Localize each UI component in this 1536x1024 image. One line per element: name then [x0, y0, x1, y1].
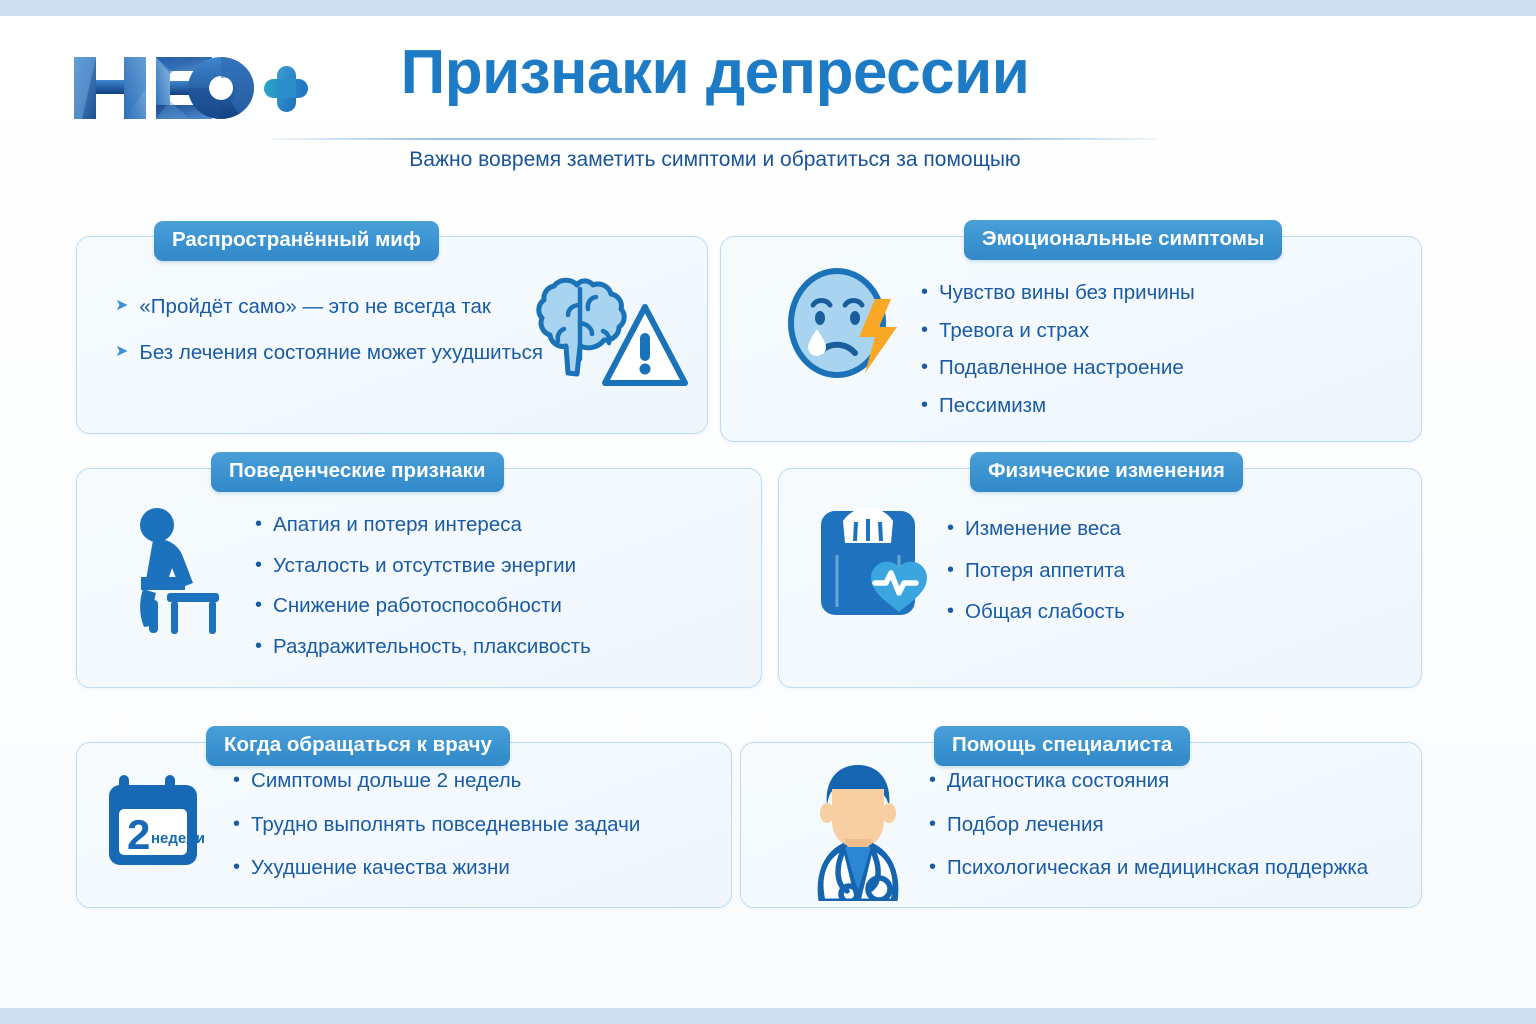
list-item: ➤ Без лечения состояние может ухудшиться	[115, 341, 543, 365]
list-item: • Симптомы дольше 2 недель	[233, 769, 640, 793]
dot-bullet-icon: •	[921, 319, 928, 342]
card-badge-when-to-see-doctor: Когда обращаться к врачу	[206, 726, 510, 766]
list-item: • Раздражительность, плаксивость	[255, 635, 591, 659]
dot-bullet-icon: •	[233, 769, 240, 792]
arrow-bullet-icon: ➤	[115, 341, 128, 363]
list-item-label: Пессимизм	[939, 394, 1046, 418]
brain-warning-icon	[533, 267, 693, 402]
list-item-label: Раздражительность, плаксивость	[273, 635, 591, 659]
list-item: • Изменение веса	[947, 517, 1125, 541]
card-emotional-symptoms: Эмоциональные симптомы • Чувство вины бе…	[720, 236, 1422, 442]
list-item-label: «Пройдёт само» — это не всегда так	[139, 295, 490, 319]
list-item: • Тревога и страх	[921, 319, 1195, 343]
bullet-list-common-myth: ➤ «Пройдёт само» — это не всегда так ➤ Б…	[115, 295, 543, 364]
list-item: ➤ «Пройдёт само» — это не всегда так	[115, 295, 543, 319]
card-common-myth: Распространённый миф ➤ «Пройдёт само» — …	[76, 236, 708, 434]
list-item-label: Потеря аппетита	[965, 559, 1125, 583]
list-item-label: Изменение веса	[965, 517, 1121, 541]
list-item: • Снижение работоспособности	[255, 594, 591, 618]
list-item: • Усталость и отсутствие энергии	[255, 554, 591, 578]
card-badge-physical-changes: Физические изменения	[970, 452, 1243, 492]
dot-bullet-icon: •	[255, 554, 262, 577]
list-item-label: Апатия и потеря интереса	[273, 513, 522, 537]
list-item: • Диагностика состояния	[929, 769, 1368, 793]
weight-scale-heartbeat-icon	[815, 505, 945, 635]
bullet-list-physical-changes: • Изменение веса • Потеря аппетита • Общ…	[947, 517, 1125, 624]
page-title: Признаки депрессии	[270, 42, 1160, 104]
bullet-list-emotional-symptoms: • Чувство вины без причины • Тревога и с…	[921, 281, 1195, 417]
dot-bullet-icon: •	[255, 635, 262, 658]
card-badge-emotional-symptoms: Эмоциональные симптомы	[964, 220, 1282, 260]
sitting-person-icon	[127, 505, 237, 640]
list-item-label: Снижение работоспособности	[273, 594, 562, 618]
card-physical-changes: Физические изменения • Изменение веса • …	[778, 468, 1422, 688]
card-badge-specialist-help: Помощь специалиста	[934, 726, 1190, 766]
calendar-number: 2	[127, 811, 150, 858]
dot-bullet-icon: •	[233, 813, 240, 836]
list-item: • Апатия и потеря интереса	[255, 513, 591, 537]
bullet-list-specialist-help: • Диагностика состояния • Подбор лечения…	[929, 769, 1368, 880]
dot-bullet-icon: •	[947, 600, 954, 623]
dot-bullet-icon: •	[947, 559, 954, 582]
doctor-stethoscope-icon	[783, 751, 933, 906]
list-item-label: Чувство вины без причины	[939, 281, 1195, 305]
list-item: • Психологическая и медицинская поддержк…	[929, 856, 1368, 880]
list-item: • Подавленное настроение	[921, 356, 1195, 380]
list-item: • Трудно выполнять повседневные задачи	[233, 813, 640, 837]
title-divider	[272, 138, 1156, 140]
bullet-list-when-to-see-doctor: • Симптомы дольше 2 недель • Трудно выпо…	[233, 769, 640, 880]
card-behavioral-signs: Поведенческие признаки • Апатия и потеря…	[76, 468, 762, 688]
list-item-label: Подавленное настроение	[939, 356, 1184, 380]
sad-face-lightning-icon	[779, 261, 914, 391]
bullet-list-behavioral-signs: • Апатия и потеря интереса • Усталость и…	[255, 513, 591, 658]
list-item-label: Ухудшение качества жизни	[251, 856, 510, 880]
card-badge-common-myth: Распространённый миф	[154, 221, 439, 261]
infographic-page: Признаки депрессии Важно вовремя заметит…	[0, 16, 1536, 1008]
list-item: • Ухудшение качества жизни	[233, 856, 640, 880]
list-item-label: Трудно выполнять повседневные задачи	[251, 813, 640, 837]
list-item-label: Психологическая и медицинская поддержка	[947, 856, 1368, 880]
dot-bullet-icon: •	[921, 356, 928, 379]
list-item-label: Усталость и отсутствие энергии	[273, 554, 576, 578]
card-badge-behavioral-signs: Поведенческие признаки	[211, 452, 504, 492]
page-subtitle: Важно вовремя заметить симптоми и обрати…	[270, 148, 1160, 172]
list-item-label: Подбор лечения	[947, 813, 1104, 837]
dot-bullet-icon: •	[255, 513, 262, 536]
list-item: • Подбор лечения	[929, 813, 1368, 837]
card-when-to-see-doctor: Когда обращаться к врачу • Симптомы доль…	[76, 742, 732, 908]
list-item: • Пессимизм	[921, 394, 1195, 418]
list-item: • Чувство вины без причины	[921, 281, 1195, 305]
list-item-label: Диагностика состояния	[947, 769, 1169, 793]
arrow-bullet-icon: ➤	[115, 295, 128, 317]
list-item: • Общая слабость	[947, 600, 1125, 624]
dot-bullet-icon: •	[921, 394, 928, 417]
calendar-unit: недели	[151, 830, 205, 847]
dot-bullet-icon: •	[233, 856, 240, 879]
list-item-label: Общая слабость	[965, 600, 1125, 624]
card-specialist-help: Помощь специалиста • Диагностика состоян…	[740, 742, 1422, 908]
list-item-label: Симптомы дольше 2 недель	[251, 769, 521, 793]
dot-bullet-icon: •	[921, 281, 928, 304]
calendar-two-weeks-icon: 2 недели	[103, 771, 217, 876]
bottom-edge-strip	[0, 1008, 1536, 1024]
dot-bullet-icon: •	[947, 517, 954, 540]
top-edge-strip	[0, 0, 1536, 16]
list-item-label: Тревога и страх	[939, 319, 1089, 343]
dot-bullet-icon: •	[255, 594, 262, 617]
list-item: • Потеря аппетита	[947, 559, 1125, 583]
list-item-label: Без лечения состояние может ухудшиться	[139, 341, 543, 365]
